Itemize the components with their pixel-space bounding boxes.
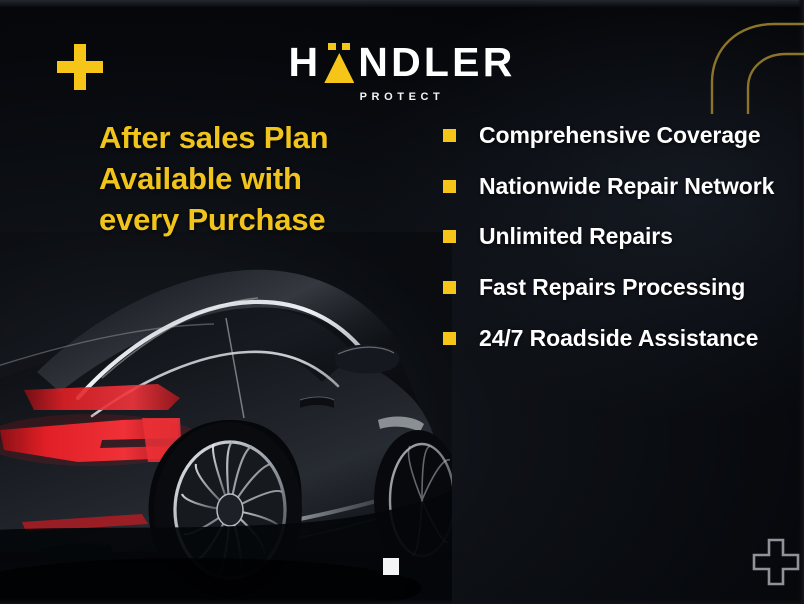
headline-line-1: After sales Plan	[99, 117, 429, 158]
list-item: Nationwide Repair Network	[443, 171, 779, 203]
umlaut-dot-right	[342, 43, 350, 50]
benefit-label: Comprehensive Coverage	[479, 120, 761, 152]
headline-line-3: every Purchase	[99, 199, 429, 240]
bullet-square-icon	[443, 230, 456, 243]
bullet-square-icon	[443, 281, 456, 294]
top-edge-strip	[0, 0, 804, 7]
brand-logo: H NDLER PROTECT	[0, 42, 804, 103]
brand-name-part-2: NDLER	[358, 42, 515, 83]
umlaut-dot-left	[328, 43, 336, 50]
headline-line-2: Available with	[99, 158, 429, 199]
headline: After sales Plan Available with every Pu…	[99, 117, 429, 241]
benefit-label: Nationwide Repair Network	[479, 171, 774, 203]
brand-name-part-1: H	[288, 42, 321, 83]
triangle-a-glyph	[324, 53, 354, 83]
brand-a-umlaut-mark	[322, 42, 356, 83]
brand-tagline: PROTECT	[0, 92, 804, 103]
vehicle-image	[0, 232, 452, 604]
list-item: Unlimited Repairs	[443, 221, 779, 253]
bullet-square-icon	[443, 180, 456, 193]
bullet-square-icon	[443, 129, 456, 142]
brand-name: H NDLER	[288, 42, 515, 83]
benefit-label: Fast Repairs Processing	[479, 272, 745, 304]
list-item: 24/7 Roadside Assistance	[443, 323, 779, 355]
promo-banner: H NDLER PROTECT After sales Plan Availab…	[0, 0, 804, 604]
square-marker	[383, 558, 399, 575]
bullet-square-icon	[443, 332, 456, 345]
benefit-label: 24/7 Roadside Assistance	[479, 323, 758, 355]
plus-outline-icon	[752, 538, 800, 586]
list-item: Comprehensive Coverage	[443, 120, 779, 152]
list-item: Fast Repairs Processing	[443, 272, 779, 304]
benefit-label: Unlimited Repairs	[479, 221, 673, 253]
benefits-list: Comprehensive Coverage Nationwide Repair…	[443, 120, 779, 355]
bottom-edge-strip	[0, 599, 804, 604]
